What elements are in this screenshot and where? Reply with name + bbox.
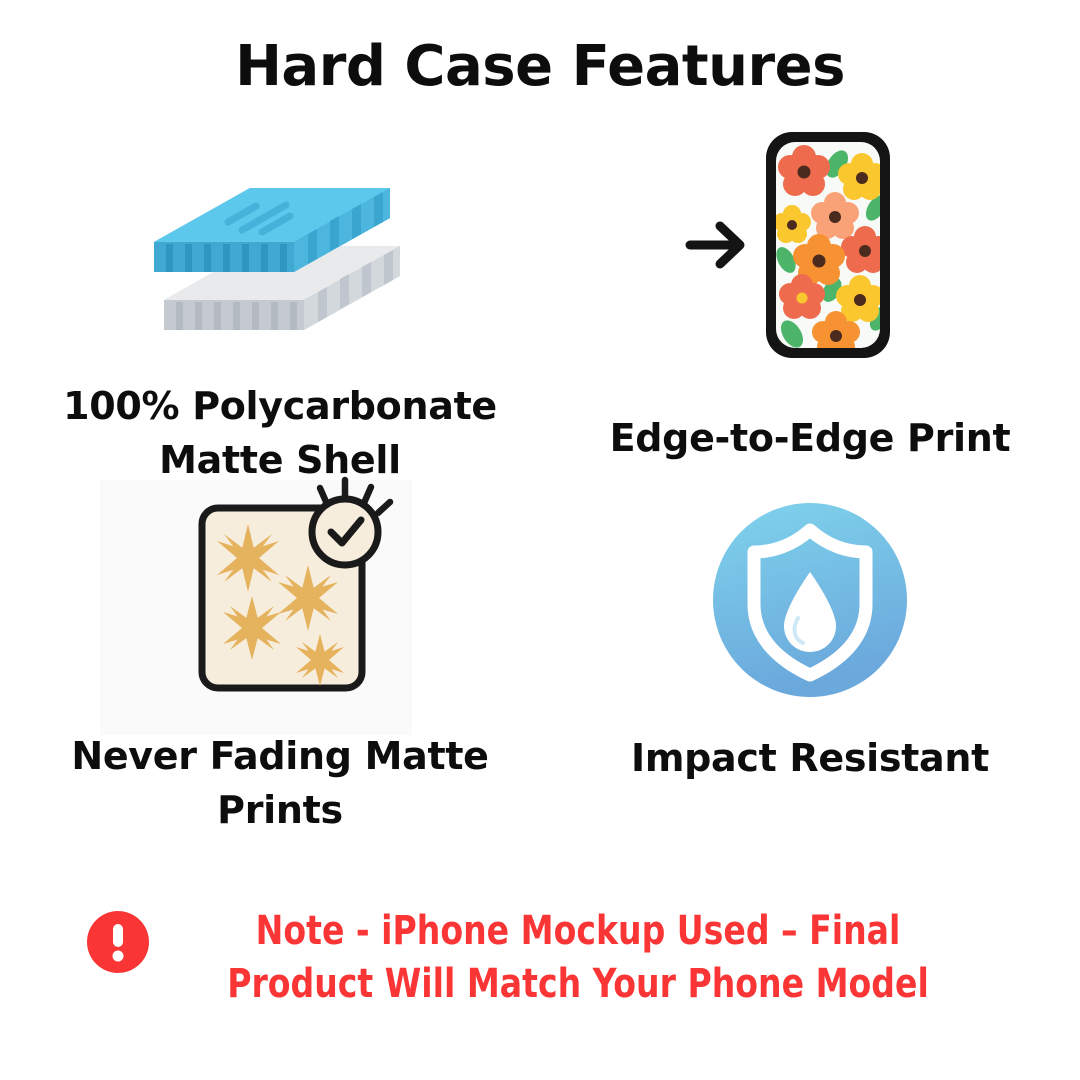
disclaimer-note-text: Note - iPhone Mockup Used – Final Produc… (196, 905, 960, 1011)
layered-shell-svg (150, 150, 410, 360)
floral-phone-case-svg (680, 120, 940, 370)
caption-line-1: Edge-to-Edge Print (610, 416, 1011, 460)
arrow-right-icon (690, 226, 740, 264)
feature-impact-resistant: Impact Resistant (560, 500, 1060, 786)
feature-infographic: Hard Case Features (0, 0, 1080, 1080)
shield-droplet-icon (560, 500, 1060, 700)
feature-caption-edge-to-edge: Edge-to-Edge Print (560, 412, 1060, 466)
disclaimer-note: Note - iPhone Mockup Used – Final Produc… (0, 905, 1080, 1011)
caption-line-1: Impact Resistant (631, 736, 989, 780)
sparkle-print-quality-icon (20, 470, 540, 720)
feature-edge-to-edge: Edge-to-Edge Print (560, 120, 1060, 466)
feature-caption-impact-resistant: Impact Resistant (560, 732, 1060, 786)
check-badge-icon (312, 480, 390, 565)
feature-caption-never-fading: Never Fading Matte Prints (20, 730, 540, 838)
page-title: Hard Case Features (0, 34, 1080, 99)
floral-phone-case-icon (560, 120, 1060, 370)
caption-line-1: 100% Polycarbonate (63, 384, 497, 428)
caption-line-2: Prints (217, 788, 343, 832)
sparkle-print-quality-svg (150, 470, 410, 720)
caption-line-1: Never Fading Matte (71, 734, 488, 778)
shield-droplet-svg (710, 500, 910, 700)
feature-polycarbonate: 100% Polycarbonate Matte Shell (20, 150, 540, 488)
layered-shell-icon (20, 150, 540, 360)
feature-never-fading: Never Fading Matte Prints (20, 470, 540, 838)
exclamation-badge-icon (87, 911, 149, 973)
